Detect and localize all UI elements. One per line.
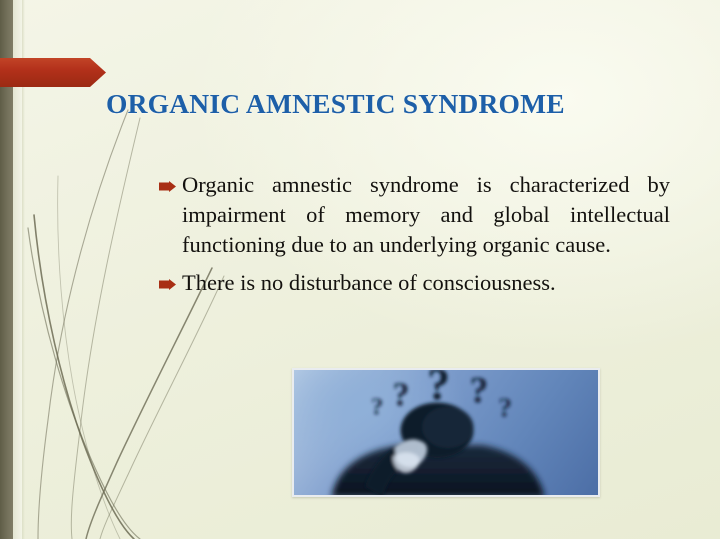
bullet-list: Organic amnestic syndrome is characteriz… (158, 170, 670, 306)
svg-text:?: ? (393, 377, 410, 414)
slide-canvas: ORGANIC AMNESTIC SYNDROME Organic amnest… (0, 0, 720, 539)
svg-text:?: ? (427, 370, 450, 410)
svg-text:?: ? (470, 371, 489, 412)
photo-content: ? ? ? ? ? (294, 370, 598, 497)
svg-text:?: ? (371, 393, 383, 420)
list-item-label: Organic amnestic syndrome is characteriz… (182, 172, 670, 257)
confused-man-question-marks-photo: ? ? ? ? ? (292, 368, 600, 497)
page-title: ORGANIC AMNESTIC SYNDROME (106, 88, 666, 120)
list-item: There is no disturbance of consciousness… (158, 268, 670, 298)
red-arrow-bullet-icon (159, 279, 176, 290)
red-arrow-banner-icon (0, 58, 106, 87)
list-item-label: There is no disturbance of consciousness… (182, 270, 556, 295)
red-arrow-bullet-icon (159, 181, 176, 192)
list-item: Organic amnestic syndrome is characteriz… (158, 170, 670, 260)
svg-text:?: ? (498, 391, 512, 422)
